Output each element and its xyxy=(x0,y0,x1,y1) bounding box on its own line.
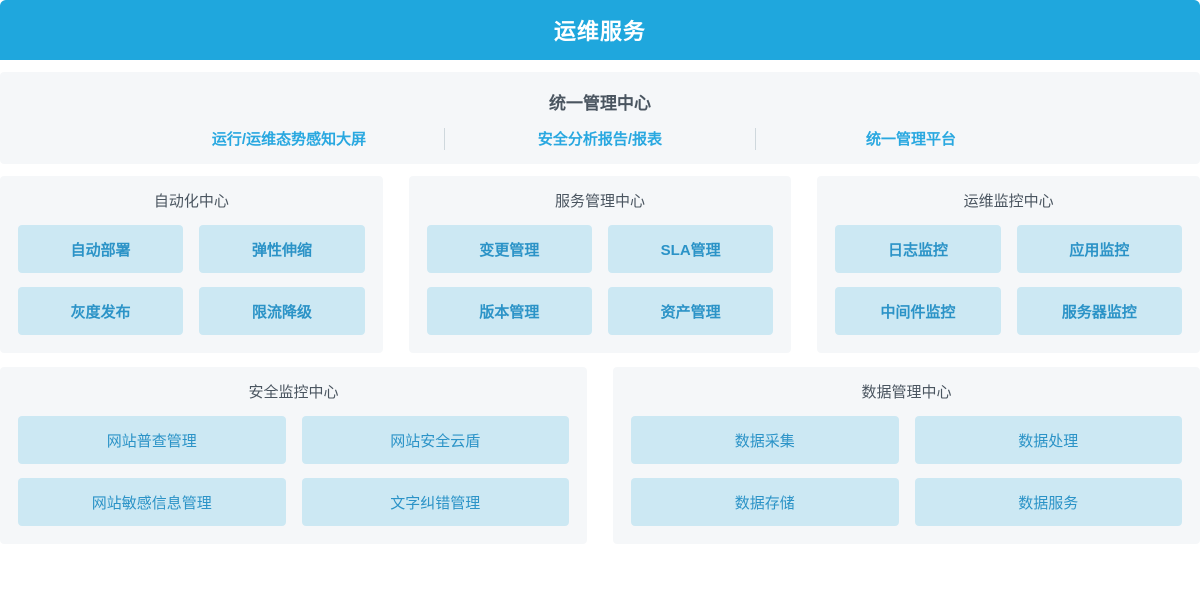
tile-grid: 数据采集 数据处理 数据存储 数据服务 xyxy=(631,416,1182,526)
group-service-management-center: 服务管理中心 变更管理 SLA管理 版本管理 资产管理 xyxy=(409,176,792,353)
group-title: 数据管理中心 xyxy=(631,381,1182,402)
umc-item-dashboard[interactable]: 运行/运维态势感知大屏 xyxy=(174,128,404,149)
group-title: 安全监控中心 xyxy=(18,381,569,402)
group-title: 服务管理中心 xyxy=(427,190,774,211)
tile-log-monitoring[interactable]: 日志监控 xyxy=(835,225,1000,273)
tile-grid: 日志监控 应用监控 中间件监控 服务器监控 xyxy=(835,225,1182,335)
tile-data-processing[interactable]: 数据处理 xyxy=(915,416,1183,464)
tile-application-monitoring[interactable]: 应用监控 xyxy=(1017,225,1182,273)
tile-server-monitoring[interactable]: 服务器监控 xyxy=(1017,287,1182,335)
tile-middleware-monitoring[interactable]: 中间件监控 xyxy=(835,287,1000,335)
tile-version-management[interactable]: 版本管理 xyxy=(427,287,592,335)
group-ops-monitoring-center: 运维监控中心 日志监控 应用监控 中间件监控 服务器监控 xyxy=(817,176,1200,353)
tile-website-security-cloud-shield[interactable]: 网站安全云盾 xyxy=(302,416,570,464)
tile-gray-release[interactable]: 灰度发布 xyxy=(18,287,183,335)
unified-management-center-panel: 统一管理中心 运行/运维态势感知大屏 安全分析报告/报表 统一管理平台 xyxy=(0,72,1200,164)
tile-text-correction-management[interactable]: 文字纠错管理 xyxy=(302,478,570,526)
group-automation-center: 自动化中心 自动部署 弹性伸缩 灰度发布 限流降级 xyxy=(0,176,383,353)
middle-group-row: 自动化中心 自动部署 弹性伸缩 灰度发布 限流降级 服务管理中心 变更管理 SL… xyxy=(0,176,1200,353)
umc-item-platform[interactable]: 统一管理平台 xyxy=(796,128,1026,149)
divider xyxy=(444,128,445,150)
umc-item-security-report[interactable]: 安全分析报告/报表 xyxy=(485,128,715,149)
tile-asset-management[interactable]: 资产管理 xyxy=(608,287,773,335)
diagram-root: 运维服务 统一管理中心 运行/运维态势感知大屏 安全分析报告/报表 统一管理平台… xyxy=(0,0,1200,602)
tile-rate-limit-degrade[interactable]: 限流降级 xyxy=(199,287,364,335)
tile-grid: 变更管理 SLA管理 版本管理 资产管理 xyxy=(427,225,774,335)
tile-change-management[interactable]: 变更管理 xyxy=(427,225,592,273)
tile-sla-management[interactable]: SLA管理 xyxy=(608,225,773,273)
group-data-management-center: 数据管理中心 数据采集 数据处理 数据存储 数据服务 xyxy=(613,367,1200,544)
tile-data-storage[interactable]: 数据存储 xyxy=(631,478,899,526)
tile-auto-deploy[interactable]: 自动部署 xyxy=(18,225,183,273)
page-title: 运维服务 xyxy=(554,14,646,46)
diagram-header: 运维服务 xyxy=(0,0,1200,60)
tile-data-service[interactable]: 数据服务 xyxy=(915,478,1183,526)
tile-elastic-scaling[interactable]: 弹性伸缩 xyxy=(199,225,364,273)
group-title: 运维监控中心 xyxy=(835,190,1182,211)
tile-grid: 自动部署 弹性伸缩 灰度发布 限流降级 xyxy=(18,225,365,335)
tile-website-census-management[interactable]: 网站普查管理 xyxy=(18,416,286,464)
unified-management-center-items: 运行/运维态势感知大屏 安全分析报告/报表 统一管理平台 xyxy=(0,128,1200,150)
tile-website-sensitive-info-management[interactable]: 网站敏感信息管理 xyxy=(18,478,286,526)
bottom-group-row: 安全监控中心 网站普查管理 网站安全云盾 网站敏感信息管理 文字纠错管理 数据管… xyxy=(0,367,1200,544)
tile-grid: 网站普查管理 网站安全云盾 网站敏感信息管理 文字纠错管理 xyxy=(18,416,569,526)
unified-management-center-title: 统一管理中心 xyxy=(549,89,651,114)
group-security-monitoring-center: 安全监控中心 网站普查管理 网站安全云盾 网站敏感信息管理 文字纠错管理 xyxy=(0,367,587,544)
divider xyxy=(755,128,756,150)
group-title: 自动化中心 xyxy=(18,190,365,211)
tile-data-collection[interactable]: 数据采集 xyxy=(631,416,899,464)
